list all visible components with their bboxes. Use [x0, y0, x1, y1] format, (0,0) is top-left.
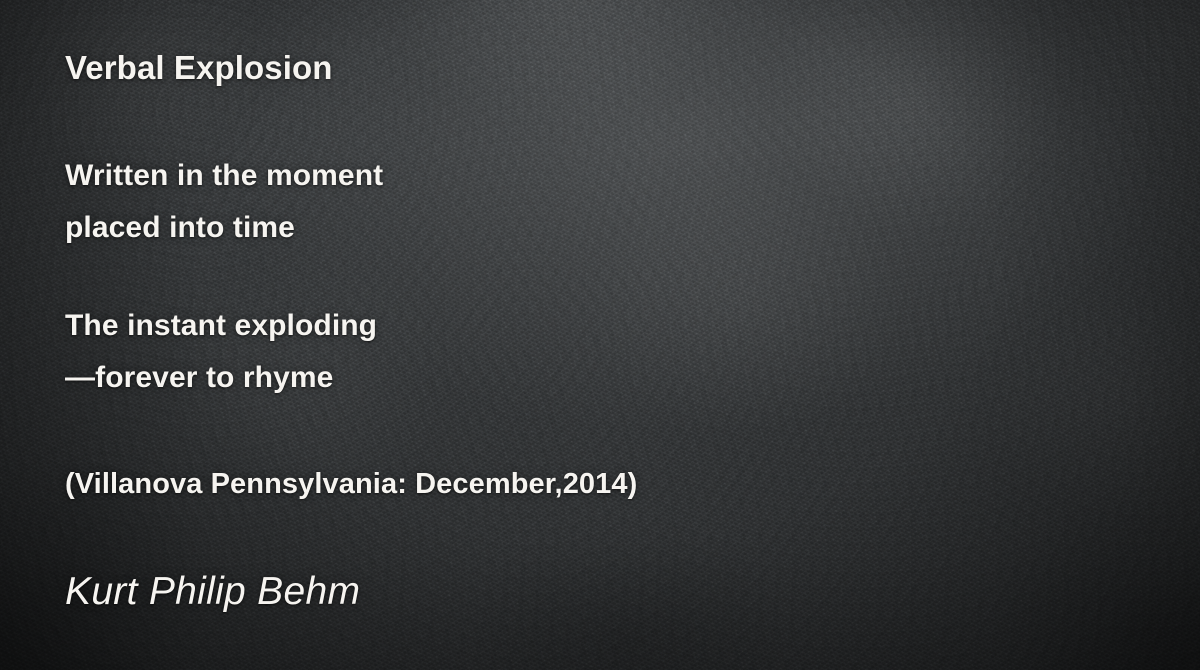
poem-line-2: placed into time — [65, 211, 295, 245]
poem-attribution: (Villanova Pennsylvania: December,2014) — [65, 468, 637, 501]
poem-line-3: The instant exploding — [65, 309, 377, 343]
poem-line-4: —forever to rhyme — [65, 361, 333, 395]
poem-text-block: Verbal Explosion Written in the moment p… — [0, 0, 1200, 670]
poem-title: Verbal Explosion — [65, 49, 333, 87]
poem-line-1: Written in the moment — [65, 159, 383, 193]
poem-image: Verbal Explosion Written in the moment p… — [0, 0, 1200, 670]
poem-author: Kurt Philip Behm — [65, 570, 360, 614]
